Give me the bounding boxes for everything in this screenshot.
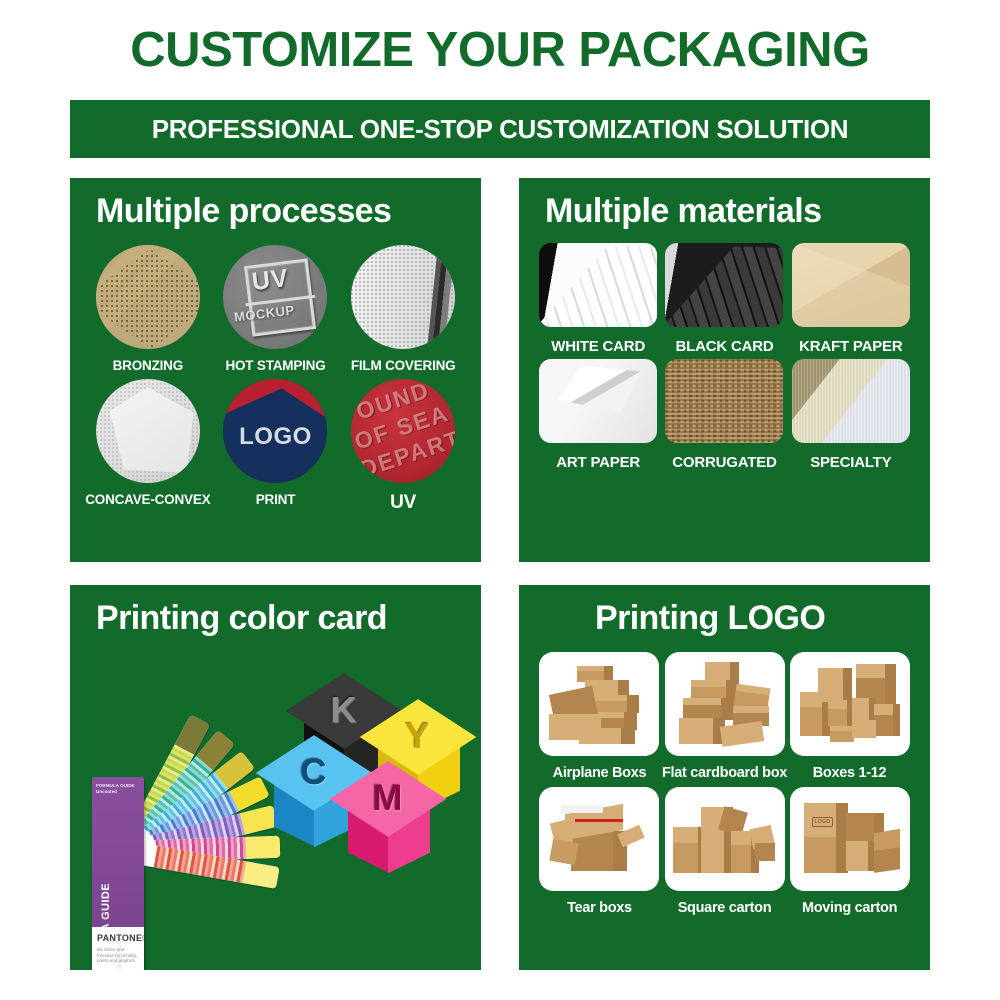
corrugated-flute-icon [665, 359, 783, 443]
box-type-label: Flat cardboard box [662, 765, 787, 781]
cube-letter: C [301, 752, 327, 793]
process-item[interactable]: CONCAVE-CONVEX [84, 379, 212, 514]
uv-seal-text: OUND OF SEA DEPARTM [351, 379, 455, 483]
process-label: PRINT [256, 492, 296, 507]
box-type-item[interactable]: Tear boxs [537, 787, 662, 916]
box-type-label: Boxes 1-12 [813, 765, 887, 781]
cover-fine-print: ink colors and formulas for printing, pa… [97, 947, 139, 964]
process-label: BRONZING [113, 358, 183, 373]
material-label: WHITE CARD [551, 338, 645, 355]
process-item[interactable]: OUND OF SEA DEPARTM UV [339, 379, 467, 514]
box-type-item[interactable]: LOGO Moving carton [787, 787, 912, 916]
cube-letter: K [331, 690, 357, 731]
process-item[interactable]: BRONZING [84, 245, 212, 373]
cmyk-cube-m[interactable]: M [340, 765, 436, 861]
material-item[interactable]: ART PAPER [535, 359, 661, 471]
material-label: SPECIALTY [810, 454, 891, 471]
process-item[interactable]: UV MOCKUP HOT STAMPING [212, 245, 340, 373]
box-type-item[interactable]: Flat cardboard box [662, 652, 787, 781]
panel-printing-color-card: Printing color card FORMULA GUIDE Uncoat… [70, 585, 481, 970]
box-type-item[interactable]: Airplane Boxs [537, 652, 662, 781]
film-lamination-icon [351, 245, 455, 349]
processes-grid: BRONZING UV MOCKUP HOT STAMPING FILM COV… [70, 231, 481, 514]
box-type-item[interactable]: Boxes 1-12 [787, 652, 912, 781]
material-item[interactable]: BLACK CARD [661, 243, 787, 355]
gold-foil-swatch-icon [96, 245, 200, 349]
square-carton-stack-icon [665, 787, 785, 891]
navy-logo-sticker-icon: LOGO [223, 379, 327, 483]
process-label: FILM COVERING [351, 358, 456, 373]
material-item[interactable]: WHITE CARD [535, 243, 661, 355]
printing-logo-grid: Airplane Boxs Flat cardboard box [519, 638, 930, 916]
material-label: CORRUGATED [672, 454, 776, 471]
material-label: KRAFT PAPER [799, 338, 902, 355]
subtitle-text: PROFESSIONAL ONE-STOP CUSTOMIZATION SOLU… [152, 114, 849, 145]
panel-title-materials: Multiple materials [519, 178, 930, 231]
process-item[interactable]: LOGO PRINT [212, 379, 340, 514]
box-type-label: Tear boxs [567, 900, 632, 916]
white-card-stack-icon [539, 243, 657, 327]
panel-printing-logo: Printing LOGO Airplane Boxs [519, 585, 930, 970]
flat-cardboard-box-stack-icon [665, 652, 785, 756]
pentagon-emboss-icon [96, 379, 200, 483]
red-embossed-seal-icon: OUND OF SEA DEPARTM [351, 379, 455, 483]
process-label: UV [390, 492, 416, 514]
material-item[interactable]: KRAFT PAPER [788, 243, 914, 355]
carton-logo-placeholder: LOGO [812, 817, 834, 827]
print-logo-text: LOGO [223, 423, 327, 451]
moving-carton-logo-icon: LOGO [790, 787, 910, 891]
page-title: CUSTOMIZE YOUR PACKAGING [0, 22, 1000, 78]
panel-title-printing-logo: Printing LOGO [519, 585, 930, 638]
box-type-label: Square carton [678, 900, 772, 916]
cube-letter: Y [406, 716, 430, 757]
cmyk-cubes-group: K Y C [266, 673, 481, 913]
process-label: CONCAVE-CONVEX [85, 492, 210, 507]
black-card-stack-icon [665, 243, 783, 327]
tear-strip-box-icon [539, 787, 659, 891]
material-item[interactable]: SPECIALTY [788, 359, 914, 471]
material-label: ART PAPER [556, 454, 640, 471]
box-type-label: Airplane Boxs [553, 765, 647, 781]
panel-title-processes: Multiple processes [70, 178, 481, 231]
materials-grid: WHITE CARD BLACK CARD KRAFT PAPER ART PA… [519, 231, 930, 471]
box-type-label: Moving carton [802, 900, 897, 916]
kraft-paper-sheet-icon [792, 243, 910, 327]
pantone-brand-mark: PANTONE® [97, 933, 144, 943]
panel-title-color-card: Printing color card [70, 585, 481, 638]
art-paper-block-icon [539, 359, 657, 443]
process-item[interactable]: FILM COVERING [339, 245, 467, 373]
panel-multiple-materials: Multiple materials WHITE CARD BLACK CARD… [519, 178, 930, 562]
color-card-stage: FORMULA GUIDE Uncoated FORMULA GUIDE Sol… [70, 653, 481, 970]
panel-multiple-processes: Multiple processes BRONZING UV MOCKUP HO… [70, 178, 481, 562]
specialty-paper-bands-icon [792, 359, 910, 443]
cover-heading: FORMULA GUIDE Uncoated [96, 783, 141, 795]
process-label: HOT STAMPING [225, 358, 325, 373]
subtitle-banner: PROFESSIONAL ONE-STOP CUSTOMIZATION SOLU… [70, 100, 930, 158]
hot-stamp-primary-text: UV [250, 264, 290, 297]
pantone-guide-cover: FORMULA GUIDE Uncoated FORMULA GUIDE Sol… [92, 777, 144, 970]
uv-mockup-emboss-icon: UV MOCKUP [223, 245, 327, 349]
infographic-page: CUSTOMIZE YOUR PACKAGING PROFESSIONAL ON… [0, 0, 1000, 1000]
material-item[interactable]: CORRUGATED [661, 359, 787, 471]
box-type-item[interactable]: Square carton [662, 787, 787, 916]
airplane-box-stack-icon [539, 652, 659, 756]
boxes-assortment-icon [790, 652, 910, 756]
cube-letter: M [373, 778, 403, 819]
material-label: BLACK CARD [675, 338, 773, 355]
